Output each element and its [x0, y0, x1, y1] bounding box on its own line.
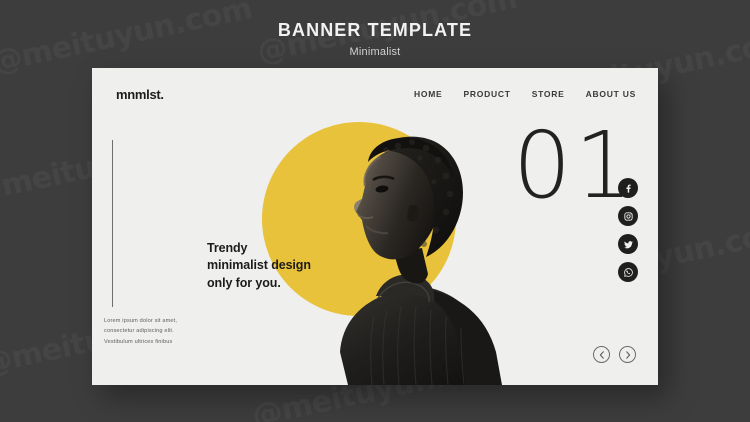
- nav-link-about-us[interactable]: ABOUT US: [586, 89, 636, 99]
- page-title: BANNER TEMPLATE: [0, 20, 750, 41]
- vertical-accent-rule: [112, 140, 113, 307]
- whatsapp-icon[interactable]: [618, 262, 638, 282]
- banner-card: mnmlst. HOME PRODUCT STORE ABOUT US 01: [92, 68, 658, 385]
- headline-line-3: only for you.: [207, 275, 311, 292]
- page-header: BANNER TEMPLATE Minimalist: [0, 20, 750, 58]
- carousel-prev-button[interactable]: [593, 346, 610, 363]
- nav-link-home[interactable]: HOME: [414, 89, 443, 99]
- brand-logo[interactable]: mnmlst.: [116, 87, 164, 102]
- nav-link-product[interactable]: PRODUCT: [463, 89, 510, 99]
- hero-headline: Trendy minimalist design only for you.: [207, 240, 311, 292]
- carousel-next-button[interactable]: [619, 346, 636, 363]
- twitter-icon[interactable]: [618, 234, 638, 254]
- body-copy-line-3: Vestibulum ultrices finibus: [104, 337, 254, 347]
- banner-navbar: mnmlst. HOME PRODUCT STORE ABOUT US: [92, 68, 658, 120]
- hero-body-copy: Lorem ipsum dolor sit amet, consectetur …: [104, 316, 254, 347]
- instagram-icon[interactable]: [618, 206, 638, 226]
- page-subtitle: Minimalist: [0, 46, 750, 58]
- facebook-icon[interactable]: [618, 178, 638, 198]
- headline-line-2: minimalist design: [207, 257, 311, 274]
- nav-links: HOME PRODUCT STORE ABOUT US: [414, 89, 636, 99]
- body-copy-line-1: Lorem ipsum dolor sit amet,: [104, 316, 254, 326]
- body-copy-line-2: consectetur adipiscing elit.: [104, 326, 254, 336]
- nav-link-store[interactable]: STORE: [532, 89, 565, 99]
- headline-line-1: Trendy: [207, 240, 311, 257]
- social-rail: [618, 178, 638, 282]
- carousel-nav: [593, 346, 636, 363]
